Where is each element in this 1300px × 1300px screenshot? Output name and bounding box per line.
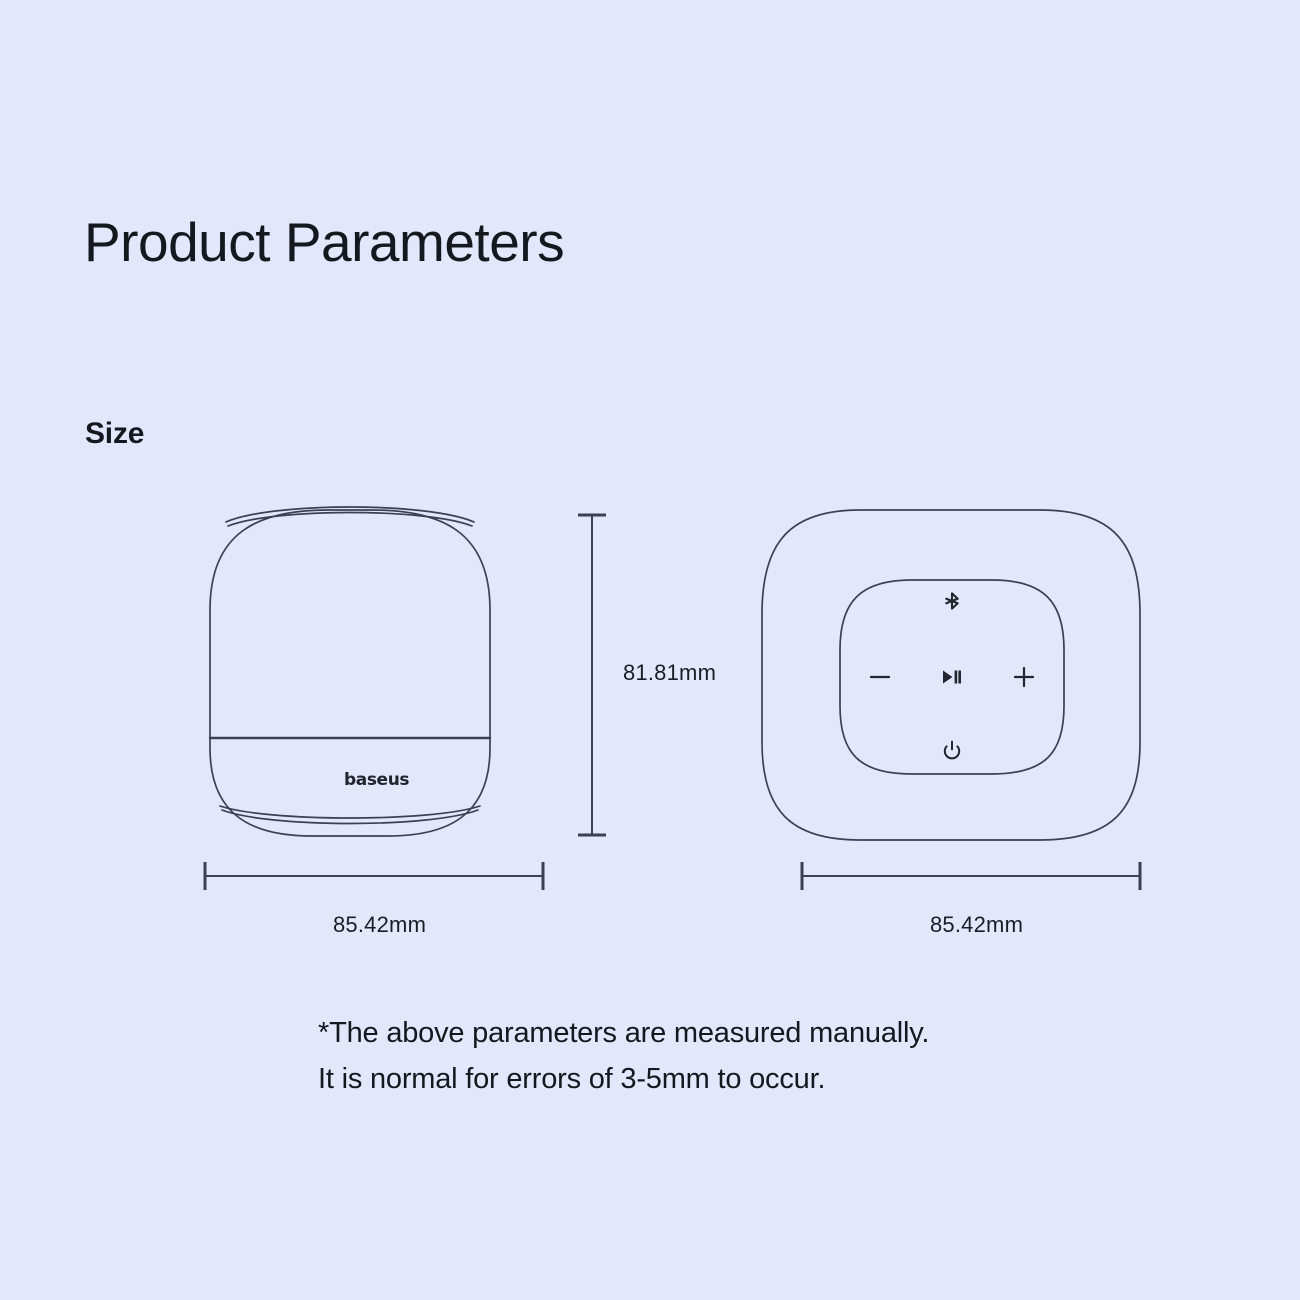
footnote-line-1: *The above parameters are measured manua… (318, 1010, 929, 1056)
dimension-lines (0, 0, 1300, 1300)
footnote-line-2: It is normal for errors of 3-5mm to occu… (318, 1056, 929, 1102)
front-width-dimension-label: 85.42mm (333, 912, 426, 938)
size-diagram: baseus (0, 0, 1300, 1300)
product-parameters-page: Product Parameters Size baseus (0, 0, 1300, 1300)
measurement-footnote: *The above parameters are measured manua… (318, 1010, 929, 1102)
top-width-dimension-label: 85.42mm (930, 912, 1023, 938)
height-dimension-label: 81.81mm (623, 660, 716, 686)
